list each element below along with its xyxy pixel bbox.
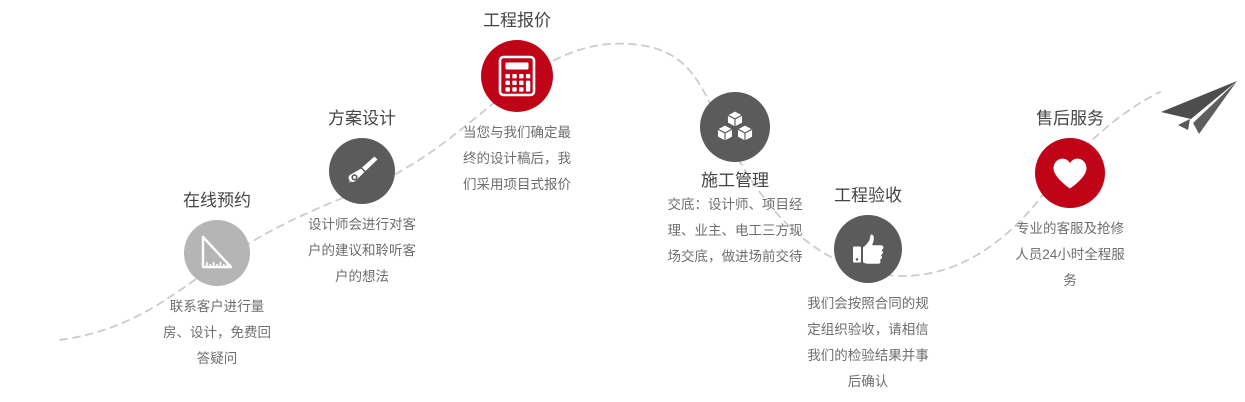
step-icon-circle[interactable] [700, 92, 770, 162]
step-description: 联系客户进行量 房、设计，免费回 答疑问 [132, 294, 302, 372]
step-title: 方案设计 [277, 108, 447, 130]
step-title: 售后服务 [985, 108, 1155, 130]
step-scheme-design[interactable]: 方案设计 设计师会进行对客 户的建议和聆听客 户的想法 [277, 108, 447, 290]
step-icon-circle[interactable] [184, 220, 250, 286]
step-icon-circle[interactable] [1035, 138, 1105, 208]
pen-nib-icon [343, 152, 381, 190]
step-project-quotation[interactable]: 工程报价 [432, 10, 602, 198]
process-flow-graphic: 在线预约 联系客户进行量 房、设计，免费回 答疑问 [0, 0, 1245, 402]
step-description: 当您与我们确定最 终的设计稿后，我 们采用项目式报价 [432, 120, 602, 198]
thumbs-up-icon [849, 230, 887, 268]
step-title: 工程验收 [775, 185, 961, 207]
step-icon-circle[interactable] [834, 215, 902, 283]
step-description: 设计师会进行对客 户的建议和聆听客 户的想法 [277, 212, 447, 290]
step-after-sales-service[interactable]: 售后服务 专业的客服及抢修 人员24小时全程服 务 [985, 108, 1155, 294]
step-project-acceptance[interactable]: 工程验收 我们会按照合同的规 定组织验收，请相信 我们的检验结果并事 后确认 [775, 185, 961, 395]
step-description: 我们会按照合同的规 定组织验收，请相信 我们的检验结果并事 后确认 [775, 291, 961, 395]
step-description: 专业的客服及抢修 人员24小时全程服 务 [985, 216, 1155, 294]
triangle-ruler-icon [197, 233, 237, 273]
cubes-icon [715, 108, 755, 146]
paper-plane-icon [1147, 78, 1243, 140]
heart-icon [1050, 155, 1090, 191]
calculator-icon [497, 55, 537, 97]
step-icon-circle[interactable] [481, 40, 553, 112]
step-title: 工程报价 [432, 10, 602, 32]
step-icon-circle[interactable] [329, 138, 395, 204]
